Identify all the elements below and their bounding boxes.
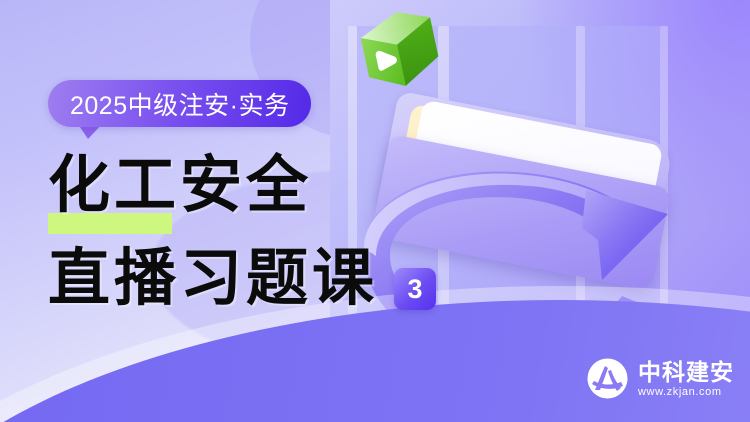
- zkjan-circle-logo-icon: [586, 357, 629, 400]
- text-content: 2025中级注安·实务 化工安全 直播习题课 3: [0, 0, 460, 422]
- episode-number-label: 3: [407, 274, 422, 305]
- logo-text-block: 中科建安 www.zkjan.com: [638, 360, 734, 398]
- page-title-line2: 直播习题课: [48, 248, 378, 310]
- course-promo-banner: 2025中级注安·实务 化工安全 直播习题课 3 中科建安 www.zkjan.…: [0, 0, 750, 422]
- brand-logo: 中科建安 www.zkjan.com: [586, 357, 734, 400]
- brand-name: 中科建安: [638, 360, 734, 384]
- episode-number-badge: 3: [394, 268, 436, 310]
- course-category-label: 2025中级注安·实务: [70, 86, 289, 122]
- course-category-badge: 2025中级注安·实务: [48, 80, 311, 127]
- brand-url: www.zkjan.com: [638, 386, 734, 398]
- page-title-line1: 化工安全: [48, 155, 312, 217]
